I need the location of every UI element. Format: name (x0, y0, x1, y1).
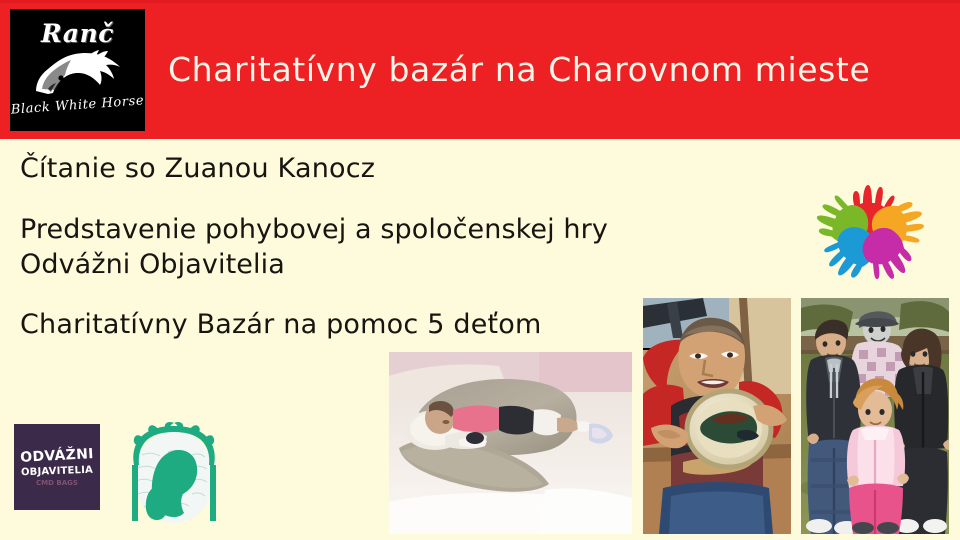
odvazni-logo-line3: CMD BAGS (14, 480, 100, 487)
program-line-reading: Čítanie so Zuanou Kanocz (20, 152, 710, 186)
woman-silhouette-cameo-icon (124, 421, 224, 525)
photo-family-outdoor (801, 298, 949, 534)
program-text-block: Čítanie so Zuanou Kanocz Predstavenie po… (20, 152, 710, 342)
program-line-game-part1: Predstavenie pohybovej a spoločenskej hr… (20, 214, 608, 245)
photo-boy-tambourine (643, 298, 791, 534)
program-line-game-part2: Odvážni Objavitelia (20, 249, 285, 280)
photo-child-pillow (389, 352, 632, 534)
program-line-bazaar: Charitatívny Bazár na pomoc 5 deťom (20, 308, 710, 342)
ranch-logo-name: Ranč (10, 19, 145, 48)
ranch-logo: Ranč Black White Horse (10, 9, 145, 131)
page-title: Charitatívny bazár na Charovnom mieste (168, 0, 950, 139)
horse-head-icon (28, 45, 128, 97)
charity-bazaar-poster: Ranč Black White Horse Charitatívny bazá… (0, 0, 960, 540)
odvazni-logo-line2: OBJAVITELIA (14, 465, 100, 479)
header-banner: Ranč Black White Horse Charitatívny bazá… (0, 0, 960, 139)
five-handprints-icon (795, 145, 945, 290)
program-line-game: Predstavenie pohybovej a spoločenskej hr… (20, 212, 710, 282)
odvazni-logo-line1: ODVÁŽNI (14, 446, 100, 466)
odvazni-objavitelia-logo: ODVÁŽNI OBJAVITELIA CMD BAGS (14, 424, 100, 510)
